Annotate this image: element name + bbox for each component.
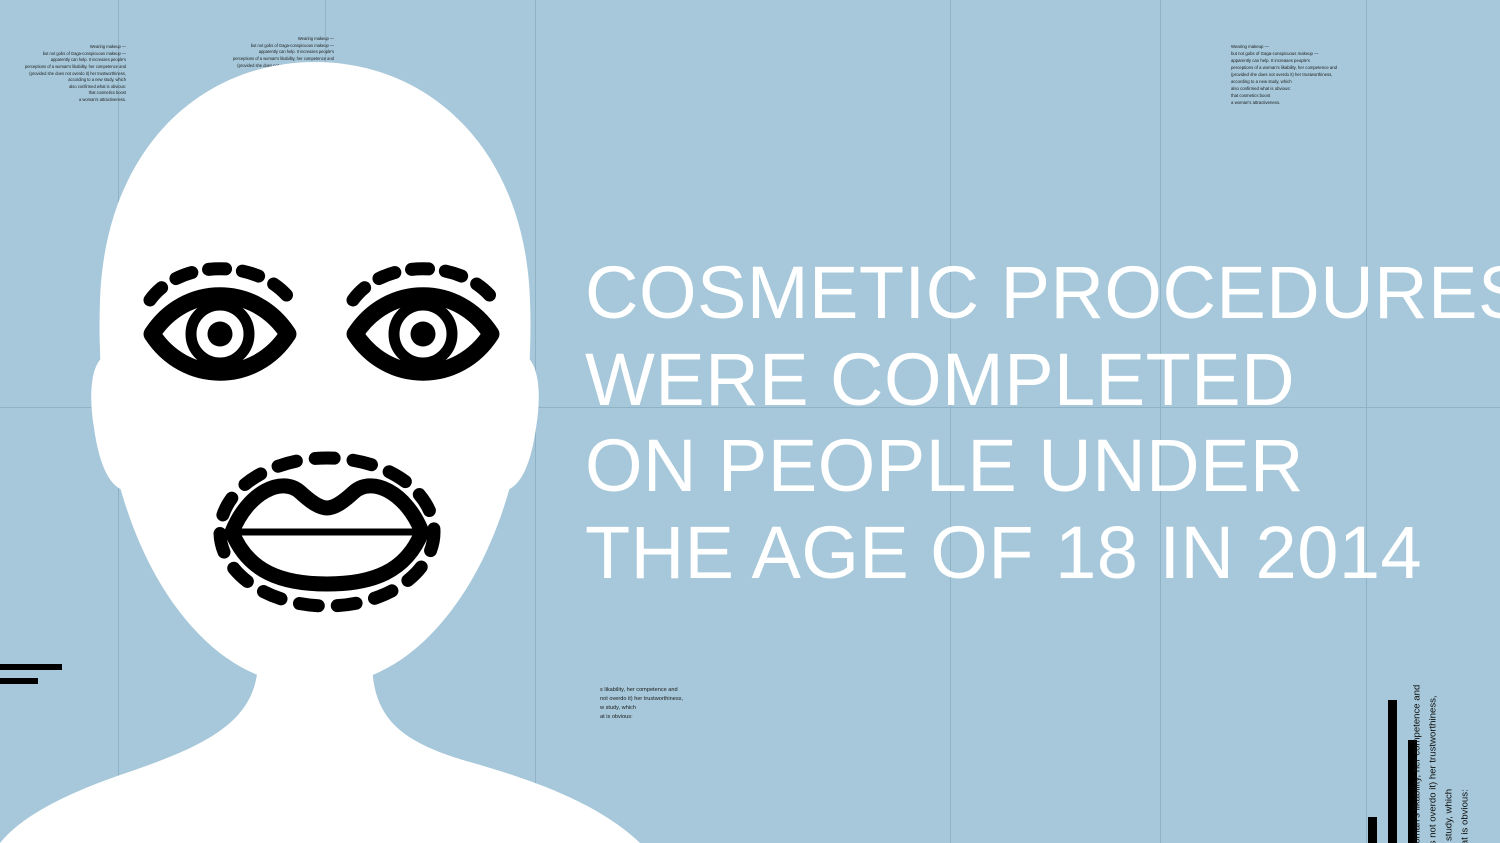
rotated-caption-line-2: es not overdo it) her trustworthiness, <box>1428 696 1438 843</box>
headline-line-3: on people under <box>585 423 1465 510</box>
bar-2 <box>1388 700 1397 843</box>
page-title: Cosmetic procedures were completed on pe… <box>585 250 1465 596</box>
head-silhouette <box>100 62 531 686</box>
body-copy-top-right: Wearing makeup — but not gobs of Gaga-co… <box>1231 44 1343 107</box>
rotated-caption-line-4: hat is obvious: <box>1460 790 1470 843</box>
headline-line-4: the age of 18 in 2014 <box>585 510 1465 597</box>
rotated-caption-line-3: w study, which <box>1444 789 1454 843</box>
bar-1 <box>1368 817 1377 843</box>
poster-canvas: Wearing makeup — but not gobs of Gaga-co… <box>0 0 1500 843</box>
headline-line-1: Cosmetic procedures <box>585 250 1465 337</box>
rotated-caption-line-1: woman's likability, her competence and <box>1412 685 1422 843</box>
headline-line-2: were completed <box>585 337 1465 424</box>
rotated-caption-block: woman's likability, her competence and e… <box>1406 676 1500 843</box>
